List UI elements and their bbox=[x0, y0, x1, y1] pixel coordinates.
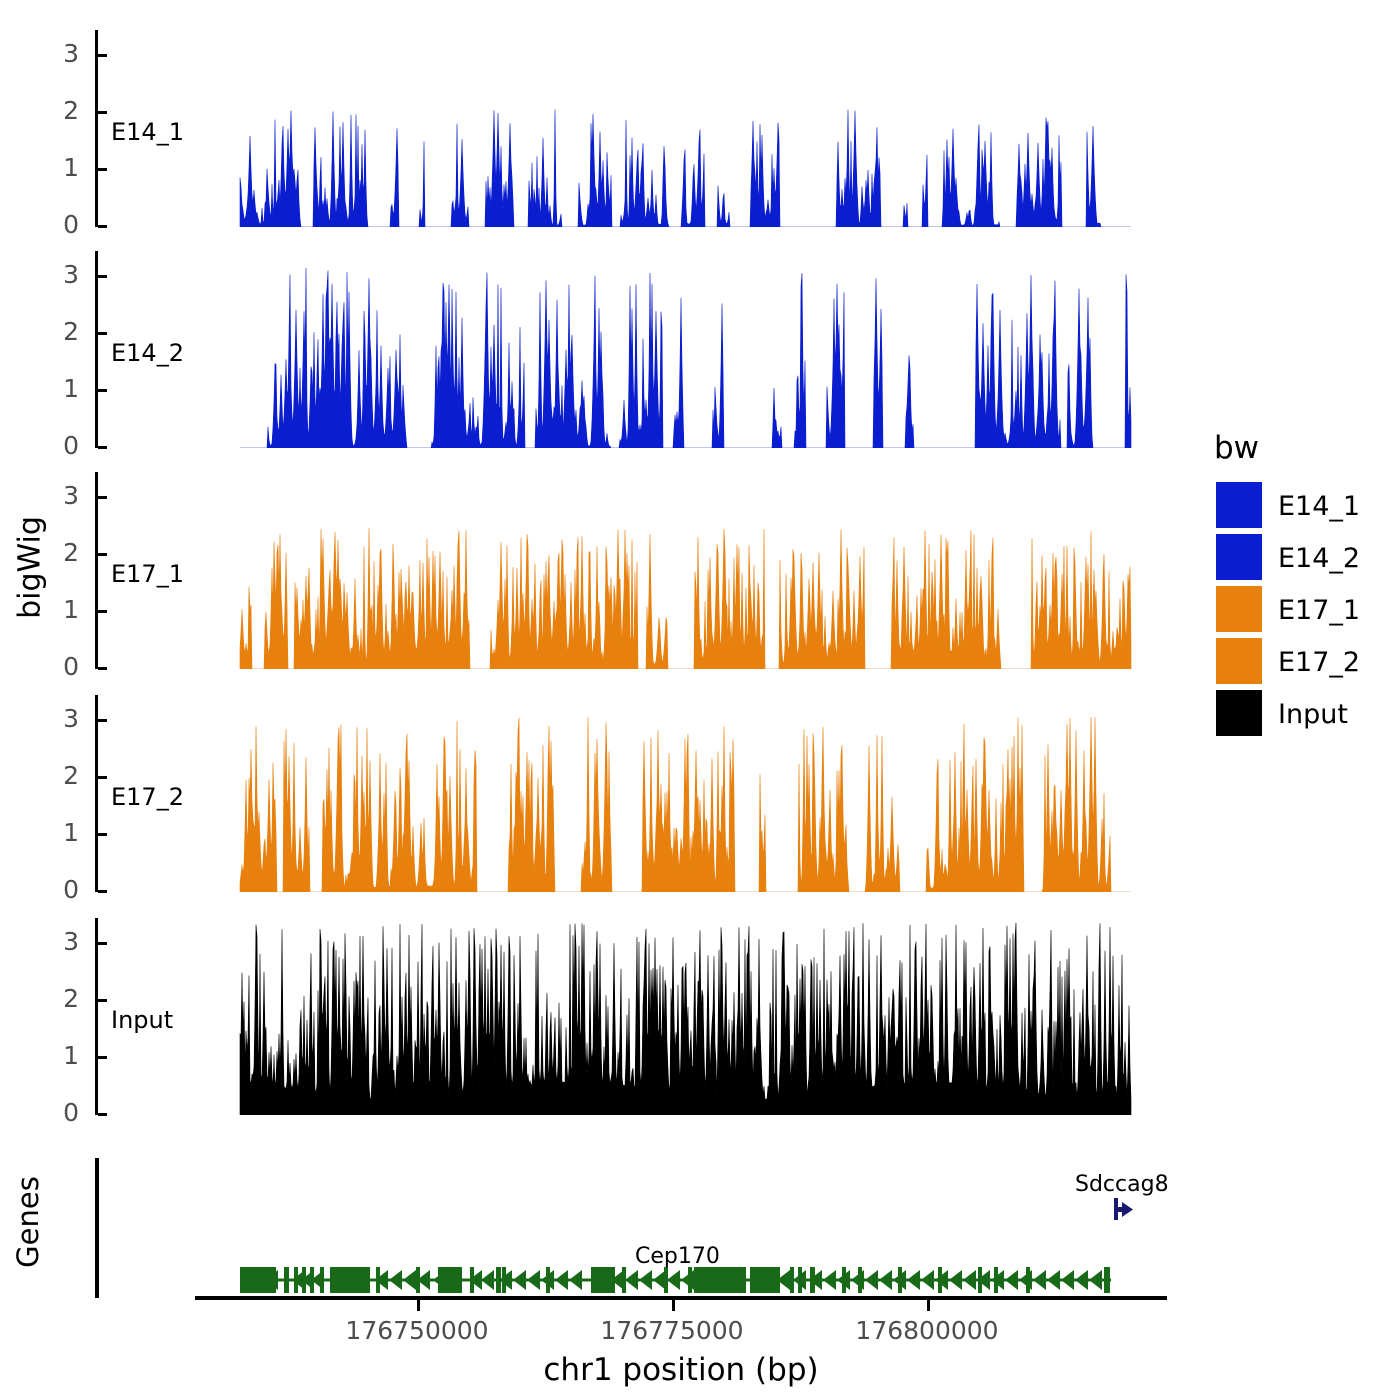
legend-label-e17-1: E17_1 bbox=[1278, 595, 1360, 626]
ytick-label: 2 bbox=[63, 984, 79, 1013]
x-axis-tick bbox=[417, 1300, 420, 1311]
legend-swatch-e14-1[interactable] bbox=[1216, 482, 1262, 528]
ytick-label: 3 bbox=[63, 39, 79, 68]
ytick-label: 3 bbox=[63, 260, 79, 289]
ytick-label: 3 bbox=[63, 927, 79, 956]
ytick-label: 3 bbox=[63, 704, 79, 733]
ytick-label: 1 bbox=[63, 153, 79, 182]
signal-plot-input bbox=[98, 918, 1165, 1115]
ytick-label: 2 bbox=[63, 96, 79, 125]
legend-swatch-e17-2[interactable] bbox=[1216, 638, 1262, 684]
legend-label-input: Input bbox=[1278, 699, 1348, 730]
x-axis-tick-label: 176800000 bbox=[807, 1316, 1047, 1345]
ytick-label: 0 bbox=[63, 875, 79, 904]
x-axis-tick-label: 176750000 bbox=[297, 1316, 537, 1345]
ytick-label: 0 bbox=[63, 1098, 79, 1127]
legend-swatch-e14-2[interactable] bbox=[1216, 534, 1262, 580]
x-axis-title: chr1 position (bp) bbox=[181, 1352, 1181, 1388]
track-panel-e17-2: 3 2 1 0 E17_2 bbox=[95, 695, 1165, 892]
track-panel-e14-2: 3 2 1 0 E14_2 bbox=[95, 251, 1165, 448]
legend-swatch-e17-1[interactable] bbox=[1216, 586, 1262, 632]
gene-label-cep170: Cep170 bbox=[635, 1244, 720, 1269]
gene-label-sdccag8: Sdccag8 bbox=[1075, 1172, 1169, 1197]
ytick-label: 1 bbox=[63, 595, 79, 624]
ytick-label: 3 bbox=[63, 481, 79, 510]
legend: bw E14_1 E14_2 E17_1 E17_2 Input bbox=[1210, 430, 1400, 720]
genes-panel: Sdccag8 Cep170 bbox=[95, 1158, 1165, 1298]
genes-track bbox=[98, 1158, 1165, 1298]
ytick-label: 1 bbox=[63, 1041, 79, 1070]
signal-plot-e17-2 bbox=[98, 695, 1165, 892]
track-panel-e14-1: 3 2 1 0 E14_1 bbox=[95, 30, 1165, 227]
ytick-label: 0 bbox=[63, 210, 79, 239]
ytick-label: 2 bbox=[63, 761, 79, 790]
y-axis-title-bigwig: bigWig bbox=[13, 503, 48, 633]
x-axis-tick bbox=[672, 1300, 675, 1311]
ytick-label: 1 bbox=[63, 818, 79, 847]
track-panel-input: 3 2 1 0 Input bbox=[95, 918, 1165, 1115]
legend-label-e14-2: E14_2 bbox=[1278, 543, 1360, 574]
ytick-label: 1 bbox=[63, 374, 79, 403]
x-axis-tick bbox=[927, 1300, 930, 1311]
legend-label-e14-1: E14_1 bbox=[1278, 491, 1360, 522]
ytick-label: 0 bbox=[63, 652, 79, 681]
ytick-label: 0 bbox=[63, 431, 79, 460]
x-axis-line bbox=[195, 1296, 1167, 1300]
signal-plot-e14-2 bbox=[98, 251, 1165, 448]
legend-label-e17-2: E17_2 bbox=[1278, 647, 1360, 678]
x-axis-tick-label: 176775000 bbox=[552, 1316, 792, 1345]
legend-swatch-input[interactable] bbox=[1216, 690, 1262, 736]
signal-plot-e17-1 bbox=[98, 472, 1165, 669]
ytick-label: 2 bbox=[63, 538, 79, 567]
track-panel-e17-1: 3 2 1 0 E17_1 bbox=[95, 472, 1165, 669]
signal-plot-e14-1 bbox=[98, 30, 1165, 227]
legend-title: bw bbox=[1214, 430, 1259, 466]
ytick-label: 2 bbox=[63, 317, 79, 346]
y-axis-title-genes: Genes bbox=[11, 1167, 45, 1277]
